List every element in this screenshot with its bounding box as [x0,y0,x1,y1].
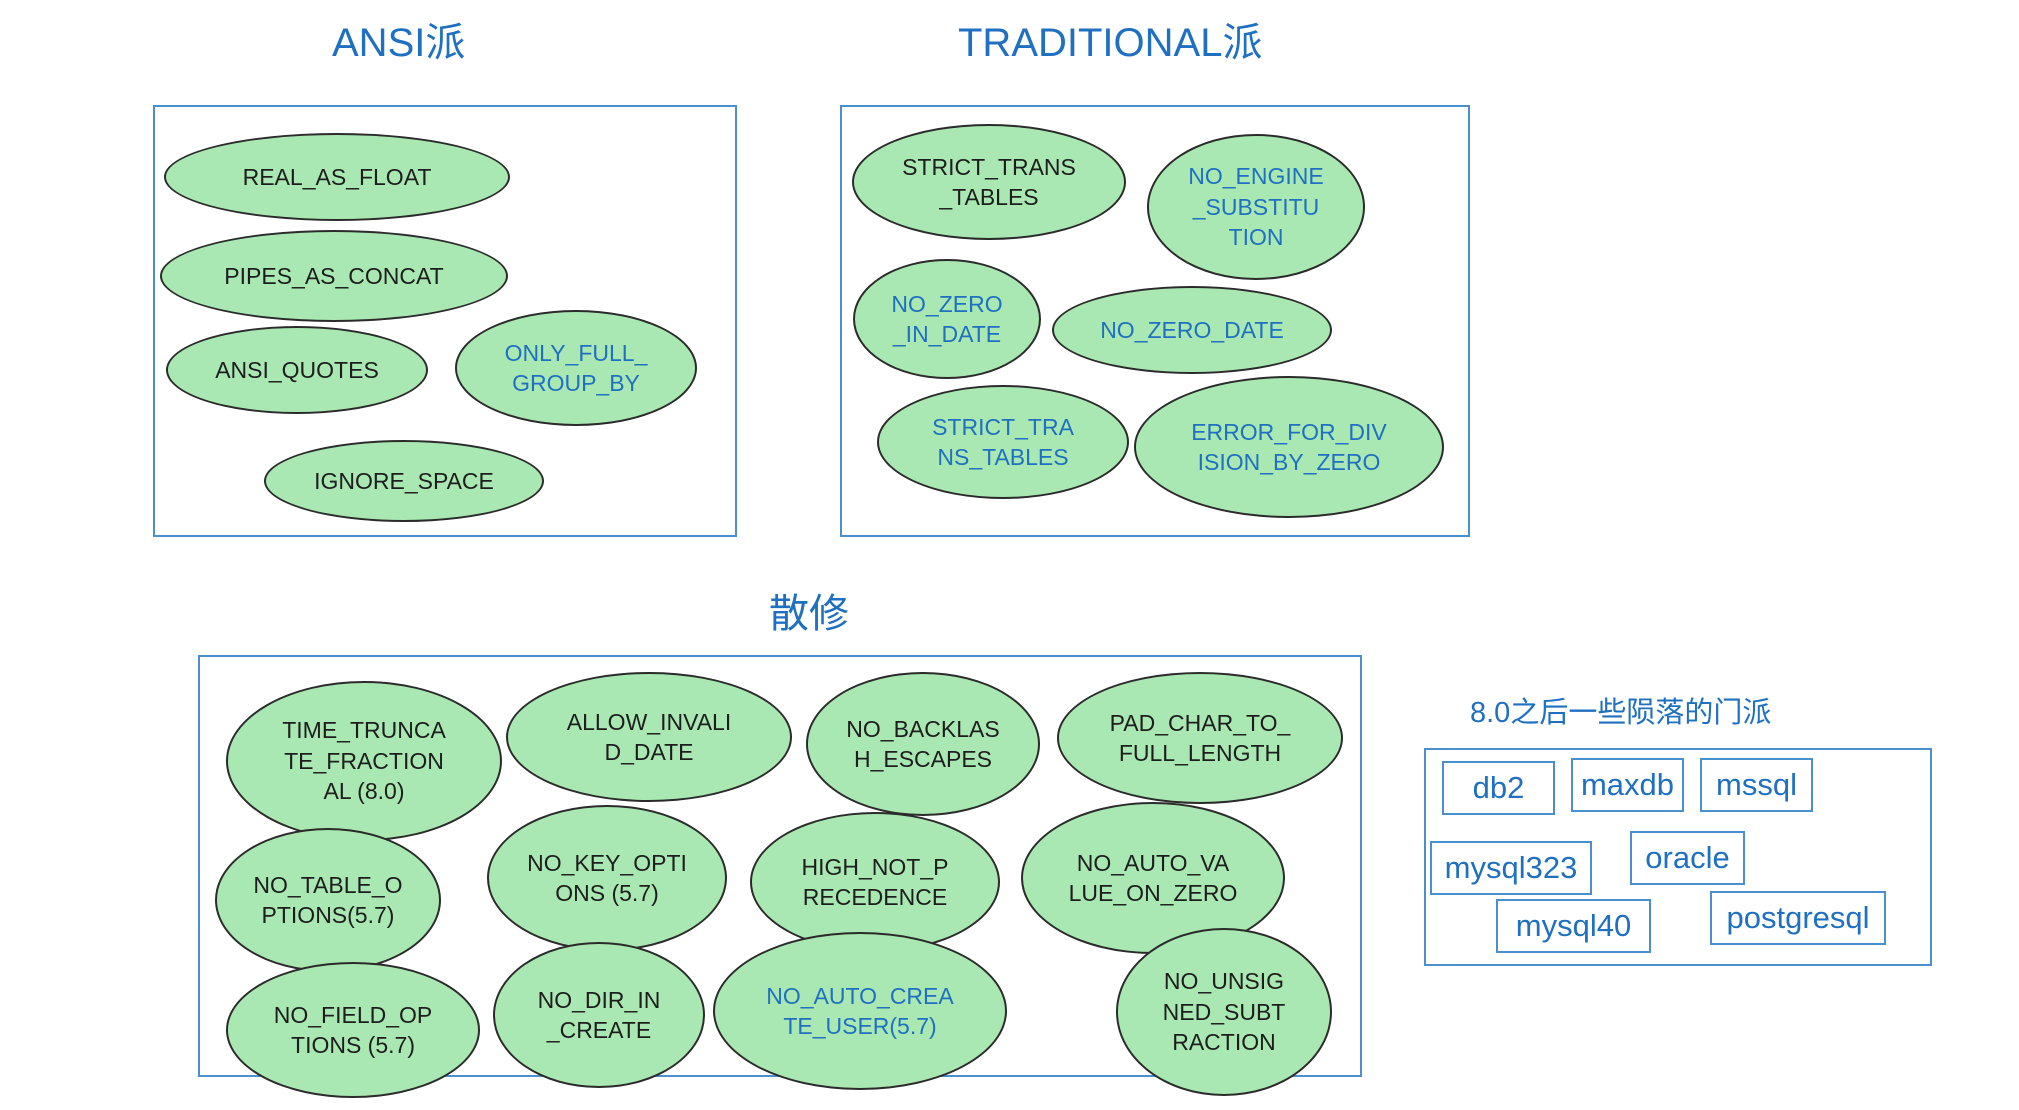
mode-oval-no-auto-create-user[interactable]: NO_AUTO_CREA TE_USER(5.7) [713,932,1007,1090]
mode-oval-no-zero-in-date[interactable]: NO_ZERO _IN_DATE [853,259,1041,379]
mode-oval-time-truncate-fractional[interactable]: TIME_TRUNCA TE_FRACTION AL (8.0) [226,681,502,841]
mode-oval-no-backlash-escapes[interactable]: NO_BACKLAS H_ESCAPES [806,672,1040,816]
mode-oval-only-full-group-by[interactable]: ONLY_FULL_ GROUP_BY [455,310,697,426]
mode-oval-no-key-options[interactable]: NO_KEY_OPTI ONS (5.7) [487,805,727,951]
mode-oval-pad-char-to-full-length[interactable]: PAD_CHAR_TO_ FULL_LENGTH [1057,672,1343,804]
group-title-sanxiu: 散修 [769,594,849,634]
legacy-chip-mysql323[interactable]: mysql323 [1430,841,1592,895]
mode-oval-allow-invalid-date[interactable]: ALLOW_INVALI D_DATE [506,672,792,802]
mode-oval-no-zero-date[interactable]: NO_ZERO_DATE [1052,286,1332,374]
mode-oval-no-unsigned-subtraction[interactable]: NO_UNSIG NED_SUBT RACTION [1116,928,1332,1096]
group-title-ansi: ANSI派 [332,23,465,63]
mode-oval-no-dir-in-create[interactable]: NO_DIR_IN _CREATE [493,942,705,1088]
mode-oval-no-table-options[interactable]: NO_TABLE_O PTIONS(5.7) [215,828,441,972]
mode-oval-no-field-options[interactable]: NO_FIELD_OP TIONS (5.7) [226,962,480,1098]
legacy-chip-oracle[interactable]: oracle [1630,831,1745,885]
mode-oval-pipes-as-concat[interactable]: PIPES_AS_CONCAT [160,230,508,322]
mode-oval-ansi-quotes[interactable]: ANSI_QUOTES [166,326,428,414]
mode-oval-no-engine-substitution[interactable]: NO_ENGINE _SUBSTITU TION [1147,134,1365,280]
mode-oval-high-not-precedence[interactable]: HIGH_NOT_P RECEDENCE [750,812,1000,952]
mode-oval-ignore-space[interactable]: IGNORE_SPACE [264,440,544,522]
legacy-chip-postgresql[interactable]: postgresql [1710,891,1886,945]
legacy-chip-db2[interactable]: db2 [1442,761,1555,815]
legacy-section-title: 8.0之后一些陨落的门派 [1470,699,1771,728]
legacy-chip-mssql[interactable]: mssql [1700,758,1813,812]
group-title-traditional: TRADITIONAL派 [958,23,1262,63]
mode-oval-strict-trans-tables-1[interactable]: STRICT_TRANS _TABLES [852,124,1126,240]
mode-oval-real-as-float[interactable]: REAL_AS_FLOAT [164,133,510,221]
mode-oval-strict-trans-tables-2[interactable]: STRICT_TRA NS_TABLES [877,385,1129,499]
legacy-chip-maxdb[interactable]: maxdb [1571,758,1684,812]
legacy-chip-mysql40[interactable]: mysql40 [1496,899,1651,953]
mode-oval-error-for-division-by-zero[interactable]: ERROR_FOR_DIV ISION_BY_ZERO [1134,376,1444,518]
